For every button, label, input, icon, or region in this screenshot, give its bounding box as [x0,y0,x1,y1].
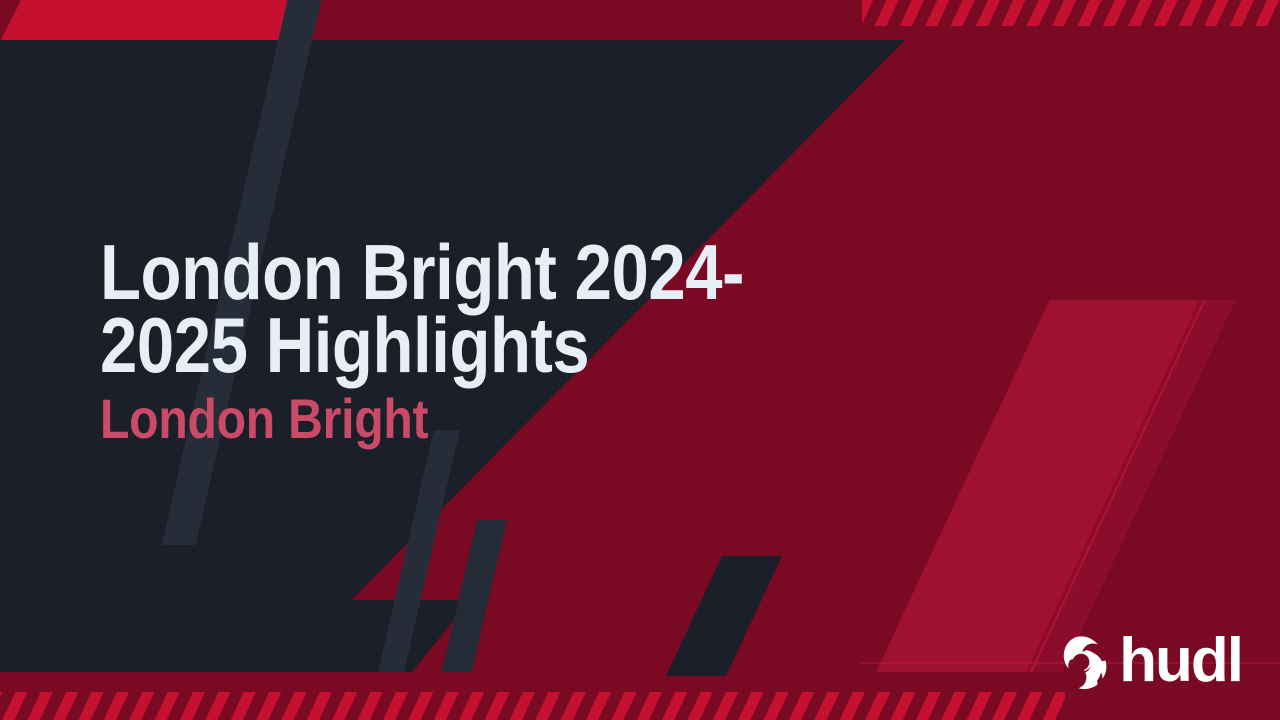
title-slide: London Bright 2024- 2025 Highlights Lond… [0,0,1280,720]
title-text-block: London Bright 2024- 2025 Highlights Lond… [100,236,860,447]
hatch-stripes-bottom-left [0,692,1065,720]
page-title: London Bright 2024- 2025 Highlights [100,236,754,383]
hudl-brand-lockup: hudl [1053,630,1242,692]
hudl-wordmark: hudl [1119,630,1242,692]
hatch-stripes-top-right [862,0,1280,26]
hudl-pinwheel-logo-icon [1053,633,1109,689]
page-subtitle: London Bright [100,391,754,447]
